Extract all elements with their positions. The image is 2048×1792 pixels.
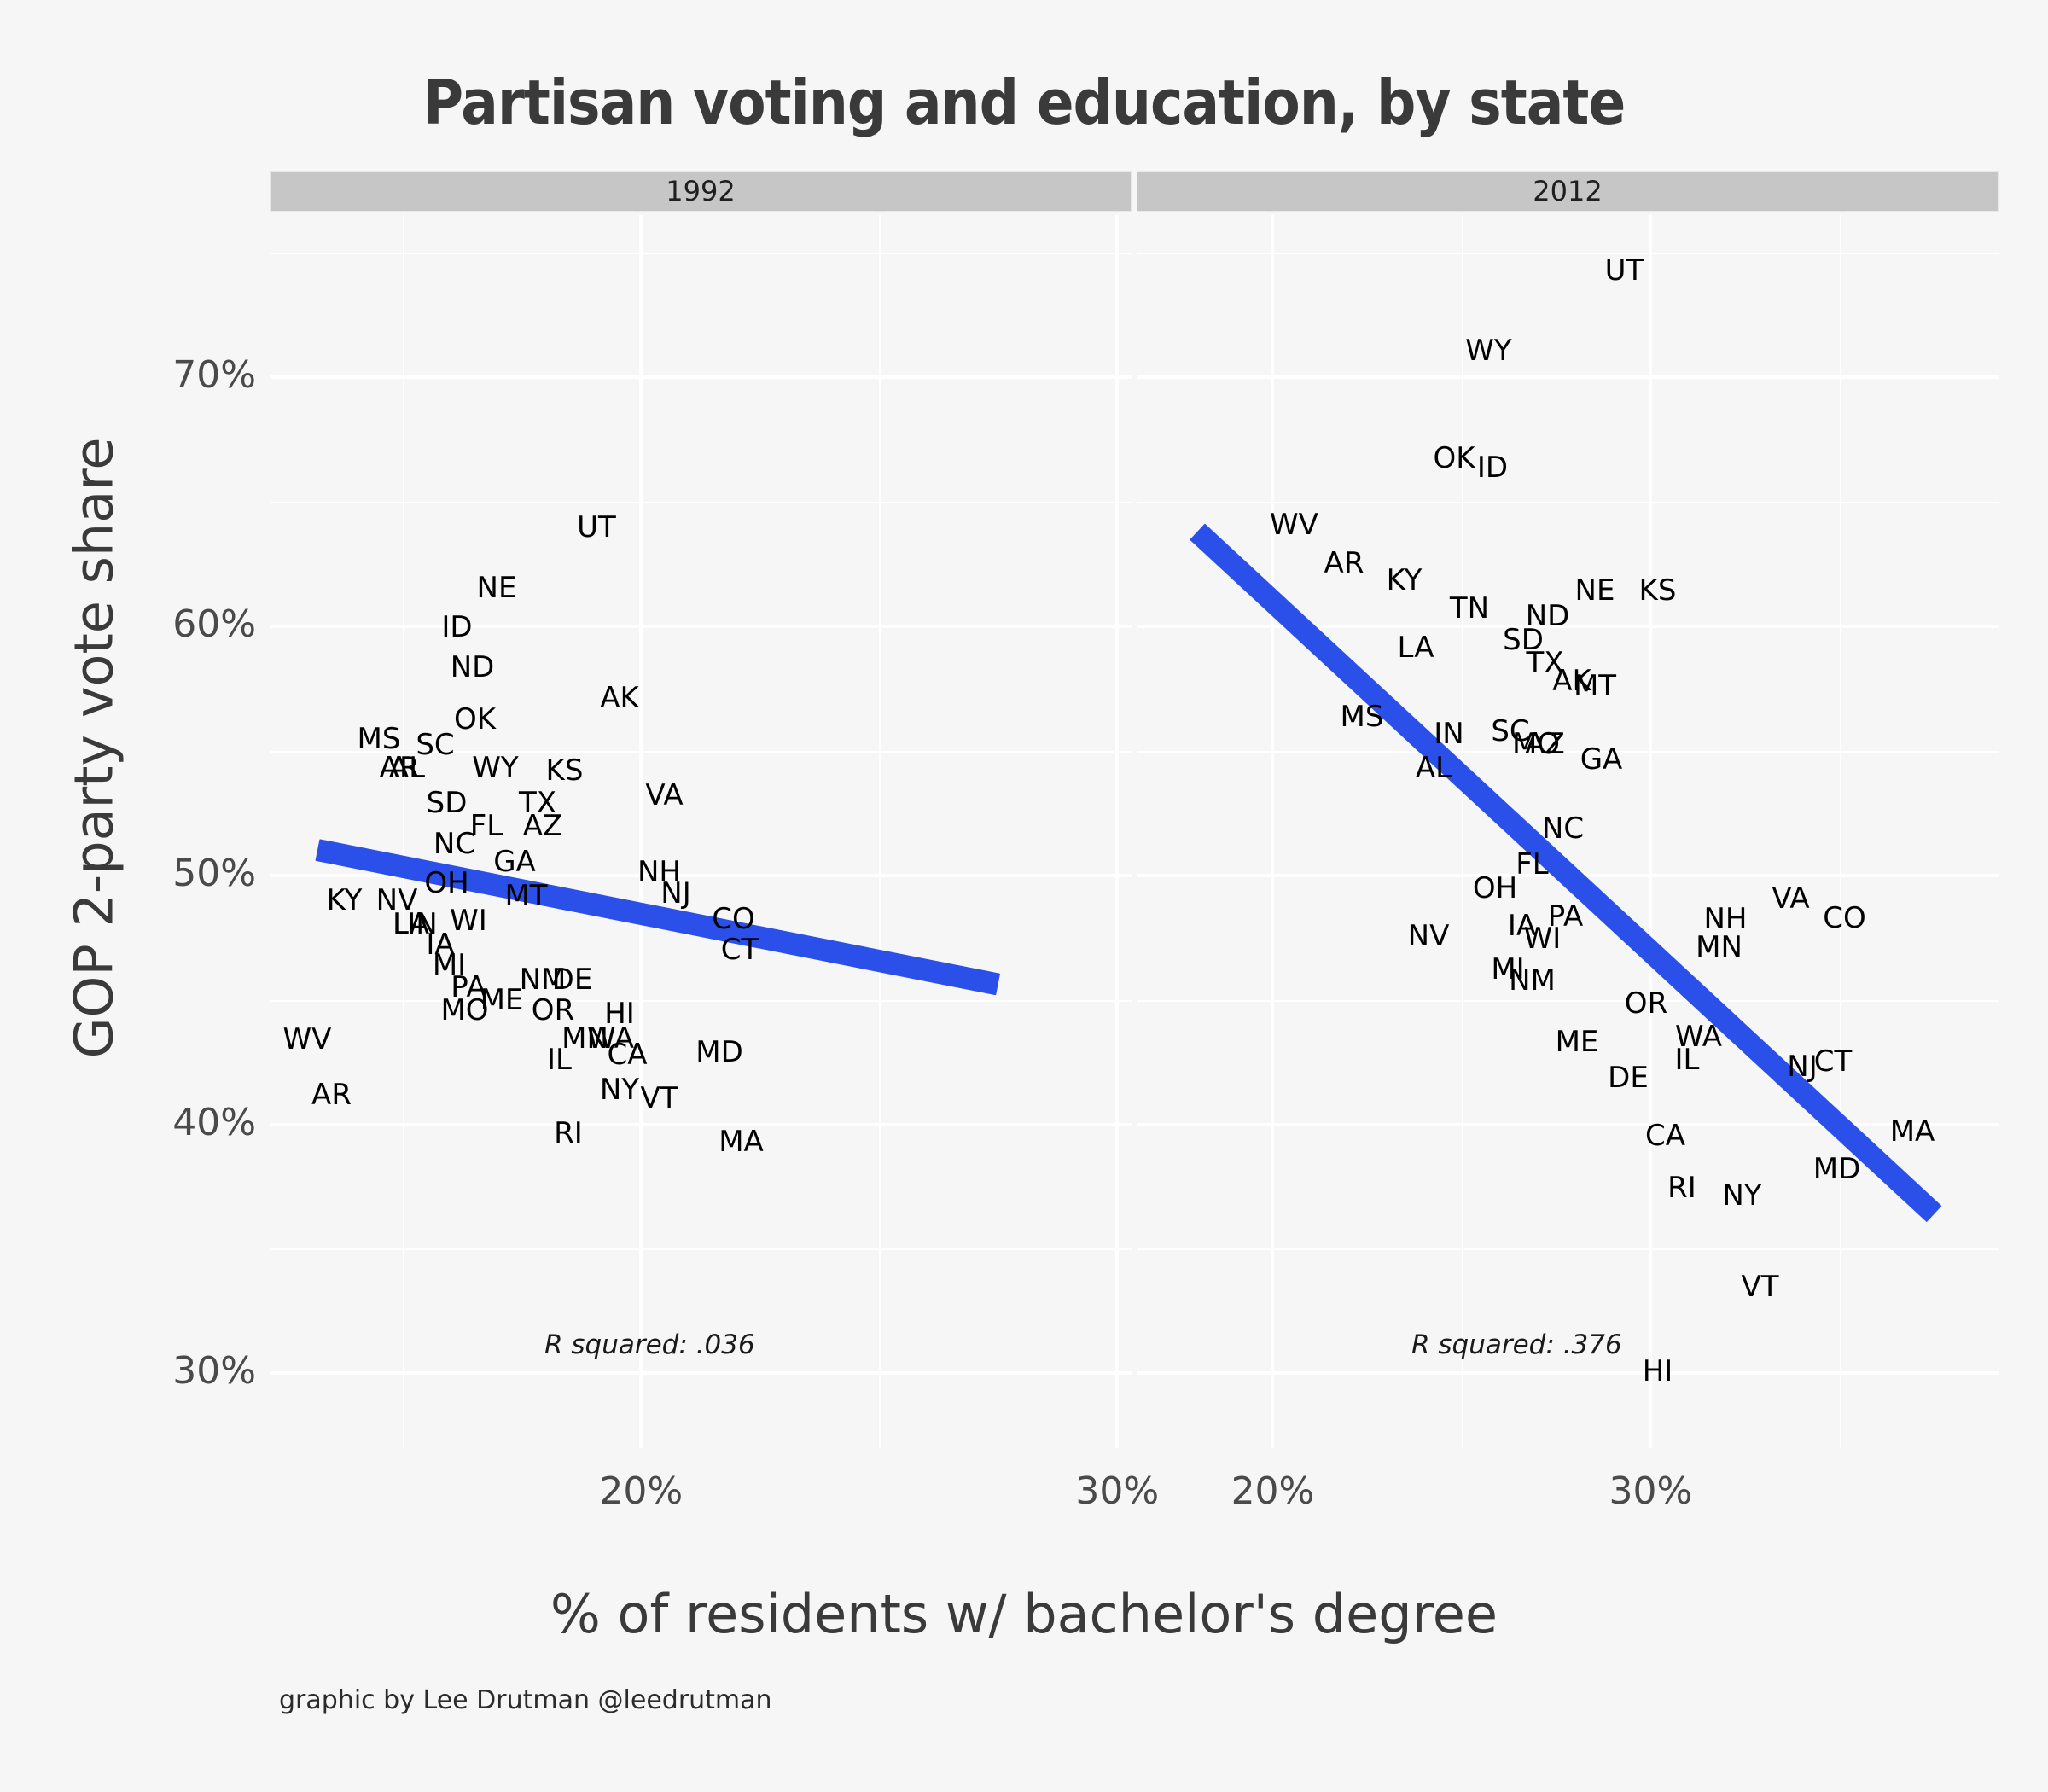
state-point-label: ME: [1556, 1027, 1599, 1056]
state-point-label: NV: [1408, 922, 1450, 951]
state-point-label: VA: [645, 781, 683, 810]
state-point-label: NC: [433, 829, 475, 858]
state-point-label: AR: [311, 1080, 352, 1109]
state-point-label: LA: [1398, 633, 1434, 662]
state-point-label: MS: [358, 724, 401, 753]
facet-panel-1992: UTNEIDNDAKOKMSSCALARWYKSSDTXVAAZFLNCGANH…: [270, 215, 1132, 1448]
state-point-label: RI: [554, 1119, 583, 1148]
page-title: Partisan voting and education, by state: [0, 67, 2048, 138]
state-point-label: MS: [1341, 702, 1384, 731]
gridline-minor-vertical: [1840, 215, 1841, 1448]
state-point-label: OR: [532, 996, 574, 1025]
state-point-label: FL: [1516, 850, 1549, 879]
facet-panel-2012: UTWYOKIDWVARKYNEKSTNNDSDLATXAKMTMSINSCMO…: [1137, 215, 1999, 1448]
figure-caption: graphic by Lee Drutman @leedrutman: [279, 1685, 772, 1715]
state-point-label: CO: [712, 905, 755, 934]
state-point-label: VT: [1741, 1272, 1778, 1301]
state-point-label: OH: [1473, 874, 1517, 903]
state-point-label: AZ: [523, 812, 563, 841]
gridline-minor-vertical: [879, 215, 881, 1448]
state-point-label: WV: [283, 1025, 332, 1054]
x-tick-label: 30%: [1582, 1469, 1719, 1513]
state-point-label: MD: [1813, 1155, 1861, 1184]
y-tick-label: 40%: [102, 1101, 256, 1144]
state-point-label: HI: [1643, 1357, 1673, 1386]
x-tick-label: 30%: [1049, 1469, 1185, 1513]
state-point-label: NM: [1509, 966, 1556, 995]
y-axis-title: GOP 2-party vote share: [63, 364, 125, 1132]
state-point-label: AK: [600, 684, 639, 713]
state-point-label: ID: [1477, 453, 1508, 482]
y-tick-label: 60%: [102, 602, 256, 646]
state-point-label: GA: [1580, 745, 1623, 774]
state-point-label: AR: [1324, 549, 1364, 578]
state-point-label: WI: [1524, 924, 1562, 953]
gridline-major-horizontal: [270, 1371, 1132, 1375]
gridline-minor-horizontal: [270, 1248, 1132, 1250]
state-point-label: CA: [1645, 1121, 1685, 1150]
facet-strip-label: 2012: [1533, 175, 1602, 207]
state-point-label: WI: [450, 906, 487, 935]
state-point-label: WY: [1465, 336, 1511, 365]
state-point-label: MD: [695, 1038, 743, 1067]
gridline-minor-horizontal: [1137, 253, 1999, 254]
state-point-label: KY: [327, 886, 363, 915]
state-point-label: VT: [640, 1084, 678, 1113]
y-tick-label: 50%: [102, 852, 256, 895]
gridline-minor-horizontal: [270, 502, 1132, 503]
gridline-minor-horizontal: [1137, 751, 1999, 753]
gridline-major-horizontal: [1137, 1123, 1999, 1126]
state-point-label: MN: [1696, 933, 1743, 962]
x-tick-label: 20%: [573, 1469, 709, 1513]
gridline-major-vertical: [639, 215, 643, 1448]
state-point-label: SD: [427, 788, 468, 817]
state-point-label: KY: [1387, 566, 1423, 595]
x-axis-title: % of residents w/ bachelor's degree: [0, 1583, 2048, 1645]
gridline-major-horizontal: [270, 375, 1132, 379]
state-point-label: CO: [1823, 904, 1866, 933]
state-point-label: OH: [424, 869, 468, 898]
state-point-label: IN: [1434, 719, 1463, 748]
state-point-label: WY: [472, 753, 518, 783]
y-tick-label: 70%: [102, 353, 256, 397]
state-point-label: AL: [1416, 753, 1452, 783]
state-point-label: IL: [1675, 1045, 1700, 1074]
x-tick-label: 20%: [1204, 1469, 1341, 1513]
state-point-label: VA: [1772, 884, 1809, 913]
facet-strip-label: 1992: [666, 175, 735, 207]
state-point-label: ID: [441, 613, 472, 642]
chart-figure: Partisan voting and education, by state …: [0, 0, 2048, 1792]
gridline-major-horizontal: [1137, 1371, 1999, 1375]
state-point-label: NH: [1704, 905, 1748, 934]
state-point-label: NJ: [1787, 1052, 1817, 1081]
state-point-label: DE: [1608, 1063, 1649, 1092]
state-point-label: AR: [380, 753, 420, 783]
gridline-major-horizontal: [270, 625, 1132, 628]
y-tick-label: 30%: [102, 1349, 256, 1393]
state-point-label: MA: [719, 1127, 764, 1156]
gridline-minor-vertical: [403, 215, 404, 1448]
state-point-label: KS: [1639, 576, 1677, 605]
r-squared-annotation: R squared: .036: [544, 1329, 755, 1360]
gridline-minor-horizontal: [270, 253, 1132, 254]
state-point-label: NY: [1722, 1181, 1761, 1210]
state-point-label: MA: [1890, 1117, 1935, 1146]
gridline-major-vertical: [1115, 215, 1119, 1448]
state-point-label: CT: [721, 935, 759, 964]
state-point-label: NC: [1542, 814, 1584, 843]
facet-strip-1992: 1992: [270, 171, 1132, 212]
state-point-label: AZ: [1525, 730, 1565, 759]
state-point-label: CT: [1814, 1047, 1853, 1076]
gridline-major-horizontal: [1137, 375, 1999, 379]
gridline-minor-horizontal: [1137, 502, 1999, 503]
state-point-label: GA: [493, 847, 536, 876]
state-point-label: KS: [546, 756, 584, 785]
gridline-minor-horizontal: [270, 1000, 1132, 1002]
state-point-label: MT: [504, 881, 547, 911]
state-point-label: IL: [547, 1045, 572, 1074]
state-point-label: OK: [454, 705, 496, 734]
state-point-label: DE: [552, 965, 593, 994]
r-squared-annotation: R squared: .376: [1411, 1329, 1622, 1360]
gridline-minor-horizontal: [1137, 1248, 1999, 1250]
state-point-label: OK: [1433, 444, 1475, 473]
state-point-label: MT: [1574, 672, 1616, 701]
facet-strip-2012: 2012: [1137, 171, 1999, 212]
gridline-major-horizontal: [270, 1123, 1132, 1126]
state-point-label: NE: [1575, 576, 1615, 605]
state-point-label: UT: [577, 513, 616, 542]
state-point-label: NJ: [660, 879, 690, 908]
gridline-major-vertical: [1649, 215, 1652, 1448]
state-point-label: TN: [1450, 594, 1489, 623]
state-point-label: RI: [1667, 1173, 1696, 1202]
gridline-minor-horizontal: [1137, 1000, 1999, 1002]
gridline-minor-vertical: [1462, 215, 1463, 1448]
state-point-label: NY: [600, 1075, 639, 1104]
state-point-label: CA: [608, 1040, 648, 1069]
state-point-label: NE: [477, 573, 517, 602]
state-point-label: ND: [451, 653, 495, 682]
state-point-label: OR: [1625, 989, 1667, 1018]
state-point-label: UT: [1605, 256, 1644, 285]
state-point-label: WV: [1270, 510, 1318, 539]
gridline-major-vertical: [1271, 215, 1274, 1448]
state-point-label: MO: [440, 996, 488, 1025]
